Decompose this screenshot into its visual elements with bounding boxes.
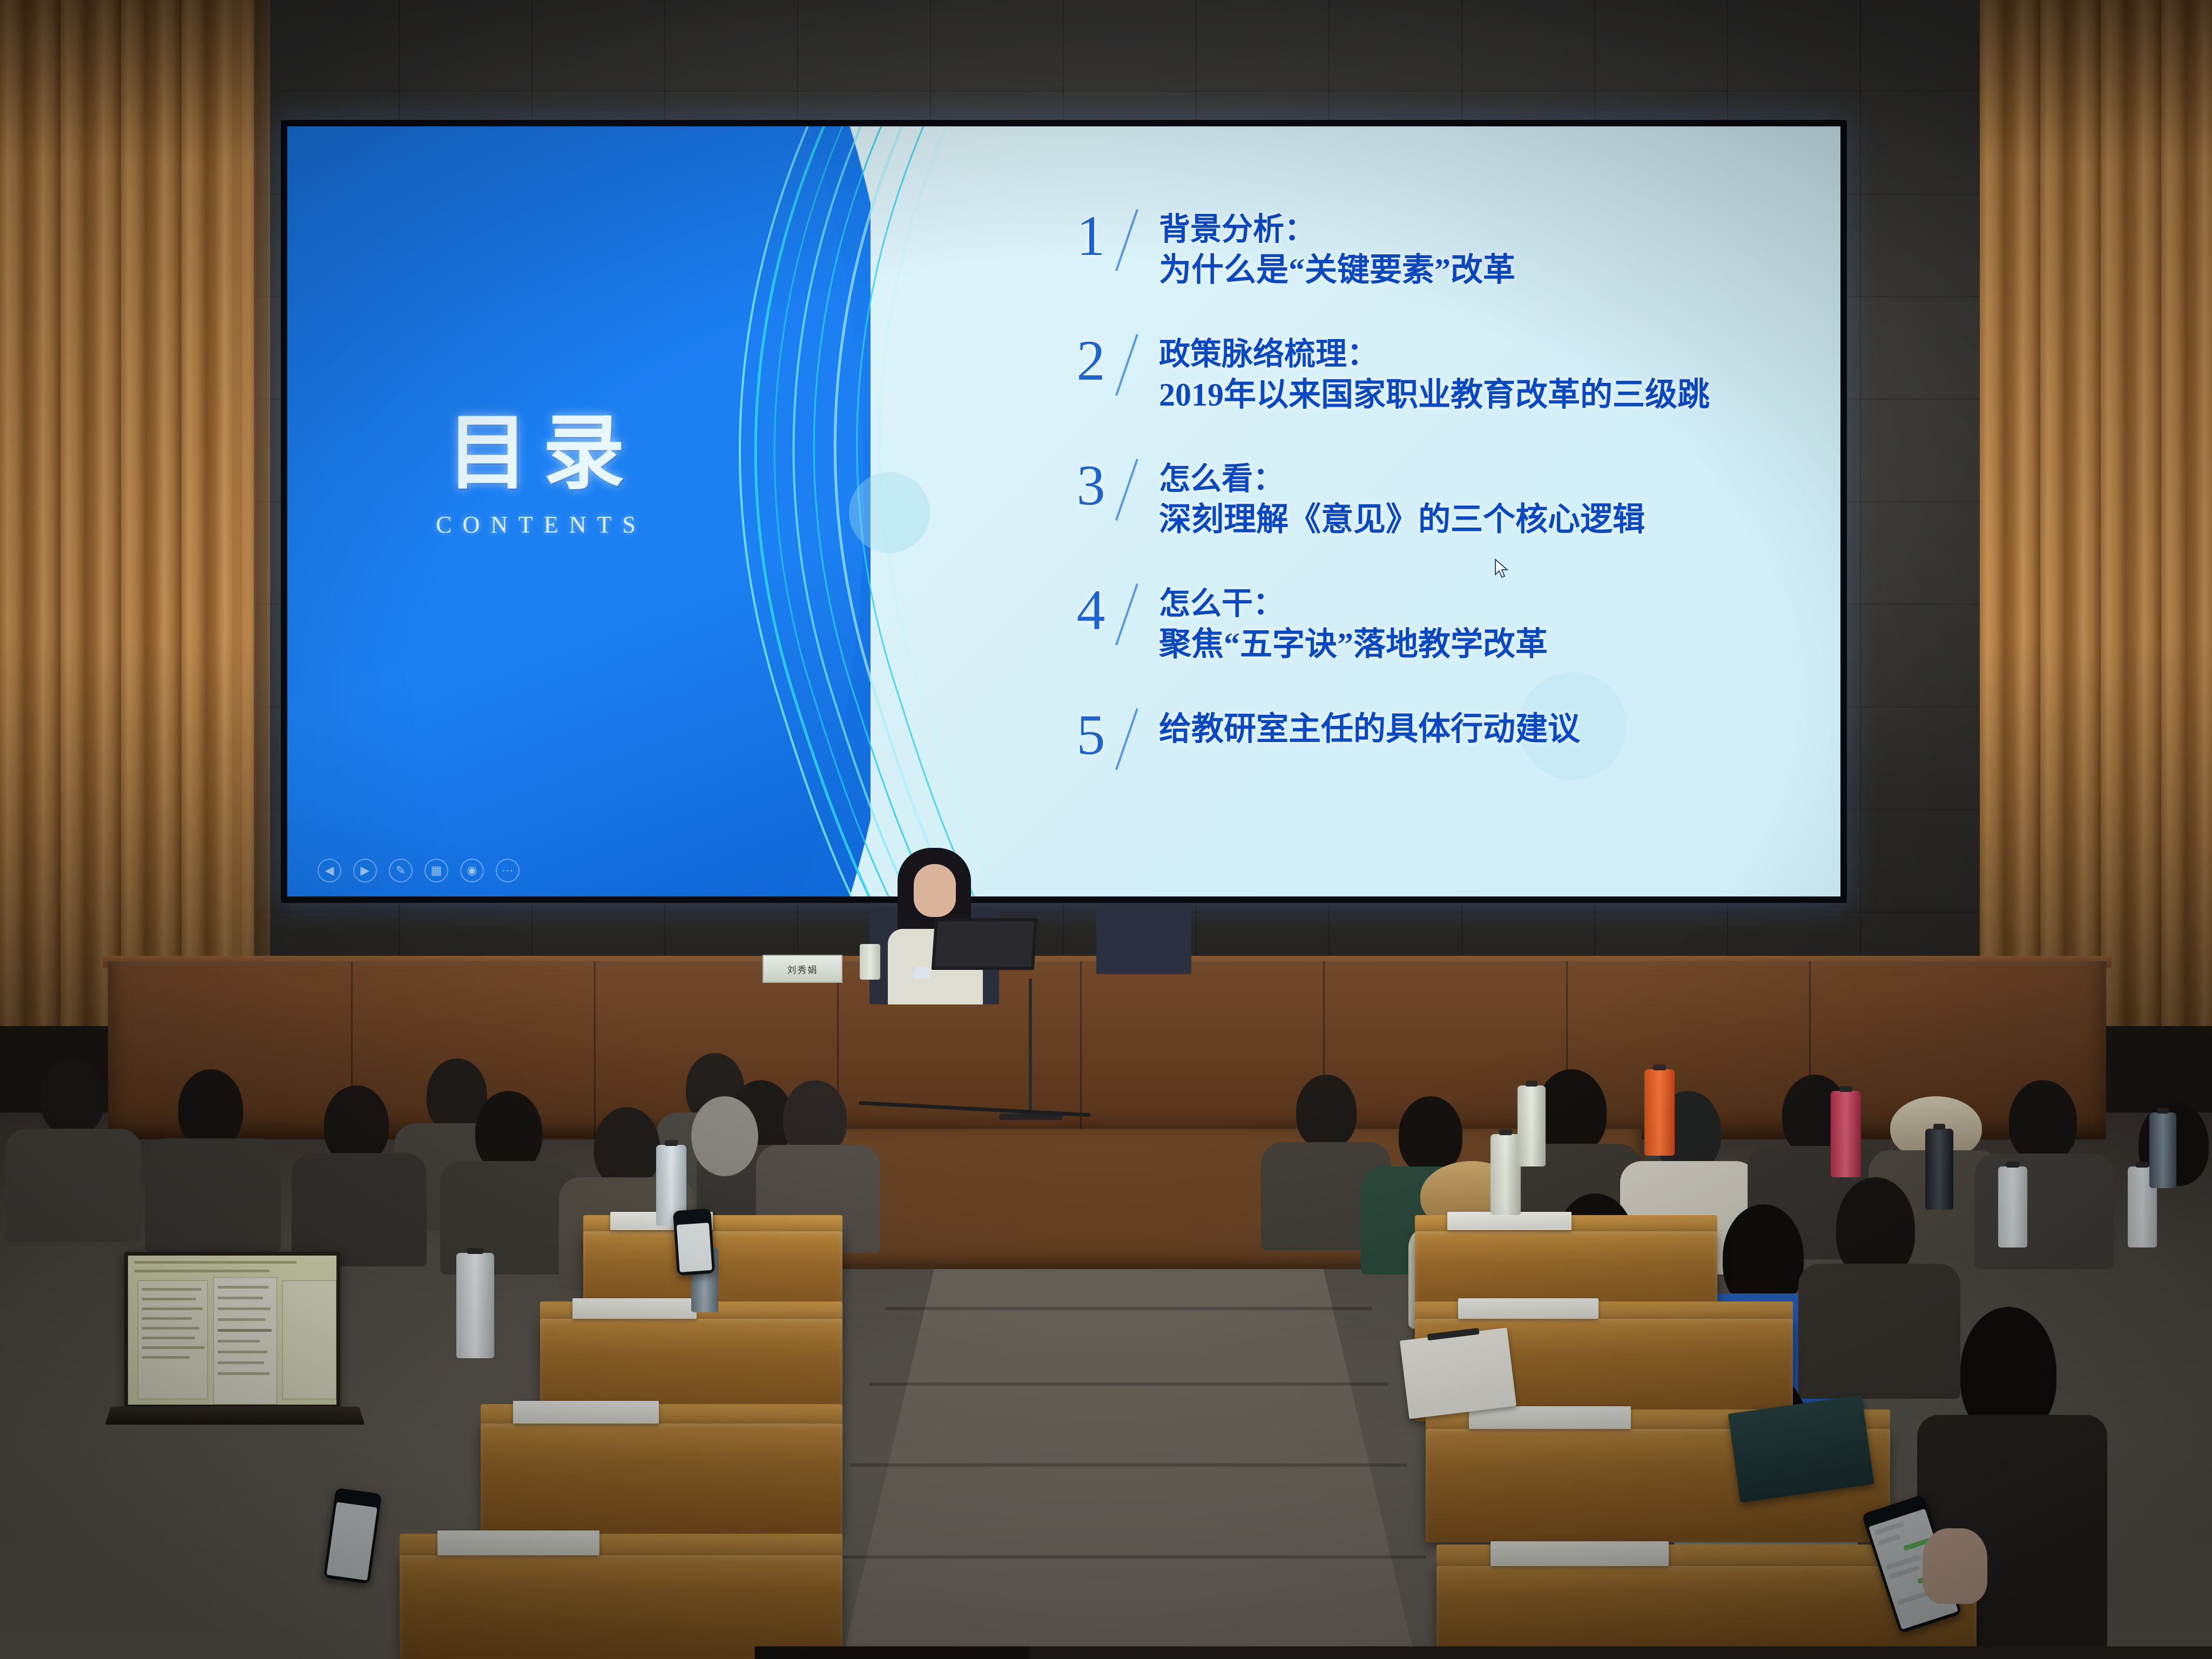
slide-title-cn: 目录	[385, 413, 687, 495]
toc-number: 3	[1065, 457, 1117, 514]
nameplate: 刘秀娟	[763, 955, 842, 983]
hand	[1923, 1528, 1987, 1604]
toc-text: 怎么看： 深刻理解《意见》的三个核心逻辑	[1159, 457, 1810, 541]
toc-slash-icon	[1117, 706, 1159, 770]
curtain-left-inner	[232, 0, 270, 1026]
toc-line-1: 政策脉络梳理：	[1159, 334, 1810, 374]
toc-slash-icon	[1117, 207, 1159, 271]
pen-annotate-icon[interactable]: ✎	[389, 859, 413, 882]
toc-line-2: 2019年以来国家职业教育改革的三级跳	[1159, 374, 1810, 416]
paper-sheet	[1469, 1406, 1631, 1429]
aisle-step	[834, 1555, 1426, 1559]
notebook	[1728, 1395, 1874, 1502]
audience-head	[324, 1085, 389, 1163]
lecture-hall-scene: 目录 CONTENTS 1 背景分析： 为什么是“关键要素”改革 2	[0, 0, 2212, 1659]
slide-toc-list: 1 背景分析： 为什么是“关键要素”改革 2 政策脉络梳理： 2019年以来国家…	[1065, 207, 1810, 770]
audience-phone	[673, 1209, 715, 1276]
clipboard	[1400, 1327, 1516, 1419]
water-bottle	[2149, 1112, 2176, 1188]
toc-line-1: 怎么干：	[1159, 584, 1810, 624]
toc-text: 政策脉络梳理： 2019年以来国家职业教育改革的三级跳	[1159, 332, 1810, 416]
toc-slash-icon	[1117, 332, 1159, 396]
toc-text: 背景分析： 为什么是“关键要素”改革	[1159, 207, 1810, 291]
presenter-laptop	[932, 918, 1038, 970]
toc-line-2: 为什么是“关键要素”改革	[1159, 249, 1810, 291]
toc-slash-icon	[1117, 457, 1159, 521]
audience-head	[2009, 1080, 2077, 1162]
water-bottle-orange	[1644, 1069, 1675, 1156]
more-options-icon[interactable]: ⋯	[496, 859, 520, 882]
water-bottle	[456, 1253, 494, 1358]
audience-head	[783, 1080, 847, 1156]
presenter-cup	[860, 944, 880, 980]
toc-number: 2	[1065, 332, 1117, 389]
water-bottle-black	[1925, 1129, 1953, 1210]
toc-number: 4	[1065, 582, 1117, 639]
paper-sheet	[572, 1298, 697, 1319]
curtain-left	[0, 0, 254, 1026]
laptop-screen	[124, 1252, 340, 1408]
audience-head	[41, 1058, 104, 1135]
audience-body	[292, 1153, 427, 1266]
paper-sheet	[437, 1530, 599, 1555]
zoom-icon[interactable]: ◉	[460, 859, 484, 882]
toc-number: 5	[1065, 706, 1117, 764]
toc-item: 2 政策脉络梳理： 2019年以来国家职业教育改革的三级跳	[1065, 332, 1810, 416]
presenter-face	[914, 864, 956, 917]
projection-screen[interactable]: 目录 CONTENTS 1 背景分析： 为什么是“关键要素”改革 2	[287, 126, 1840, 896]
previous-slide-icon[interactable]: ◀	[318, 859, 341, 882]
aisle-step	[851, 1464, 1407, 1467]
paper-sheet	[513, 1401, 659, 1424]
audience-head	[1536, 1069, 1607, 1154]
aisle-step	[869, 1382, 1388, 1386]
toc-line-1: 怎么看：	[1159, 459, 1810, 499]
slide-title-block: 目录 CONTENTS	[385, 413, 687, 538]
slide-decor-circle-1	[849, 472, 930, 553]
paper-sheet	[1458, 1298, 1599, 1319]
toc-line-1: 背景分析：	[1159, 210, 1810, 249]
podium-chair-empty	[1096, 903, 1191, 974]
water-bottle	[1518, 1085, 1546, 1166]
presenter-mouse	[913, 967, 931, 979]
slide-grid-icon[interactable]: ▦	[424, 859, 448, 882]
toc-line-2: 聚焦“五字诀”落地教学改革	[1159, 624, 1810, 665]
laptop-keyboard	[105, 1407, 365, 1425]
toc-item: 3 怎么看： 深刻理解《意见》的三个核心逻辑	[1065, 457, 1810, 541]
audience-head-gray	[691, 1096, 758, 1176]
desk	[481, 1424, 842, 1537]
toc-line-2: 深刻理解《意见》的三个核心逻辑	[1159, 499, 1810, 541]
slide-title-en: CONTENTS	[385, 511, 687, 538]
audience-body	[145, 1138, 281, 1252]
audience-head	[594, 1107, 660, 1187]
desk	[400, 1555, 842, 1659]
audience-head	[178, 1069, 243, 1148]
paper-sheet	[1491, 1541, 1669, 1566]
toc-text: 给教研室主任的具体行动建议	[1159, 706, 1810, 750]
toc-text: 怎么干： 聚焦“五字诀”落地教学改革	[1159, 582, 1810, 665]
toc-item: 5 给教研室主任的具体行动建议	[1065, 706, 1810, 770]
audience-body	[5, 1129, 141, 1242]
water-bottle	[1998, 1166, 2027, 1247]
audience-head	[1296, 1075, 1357, 1148]
water-bottle	[1491, 1134, 1521, 1215]
audience-body	[1798, 1264, 1960, 1399]
next-slide-icon[interactable]: ▶	[353, 859, 377, 882]
toc-number: 1	[1065, 207, 1117, 265]
toc-slash-icon	[1117, 582, 1159, 645]
slide-canvas: 目录 CONTENTS 1 背景分析： 为什么是“关键要素”改革 2	[287, 126, 1840, 896]
aisle-step	[886, 1307, 1372, 1310]
audience-head	[1399, 1096, 1462, 1173]
presentation-toolbar[interactable]: ◀ ▶ ✎ ▦ ◉ ⋯	[318, 859, 520, 882]
microphone-stand	[1029, 979, 1032, 1119]
water-bottle-pink	[1831, 1091, 1861, 1177]
audience-body	[1974, 1154, 2114, 1269]
toc-line-1: 给教研室主任的具体行动建议	[1159, 709, 1810, 750]
audience-head	[475, 1091, 542, 1172]
toc-item: 4 怎么干： 聚焦“五字诀”落地教学改革	[1065, 582, 1810, 665]
curtain-right	[1980, 0, 2212, 1026]
toc-item: 1 背景分析： 为什么是“关键要素”改革	[1065, 207, 1810, 291]
